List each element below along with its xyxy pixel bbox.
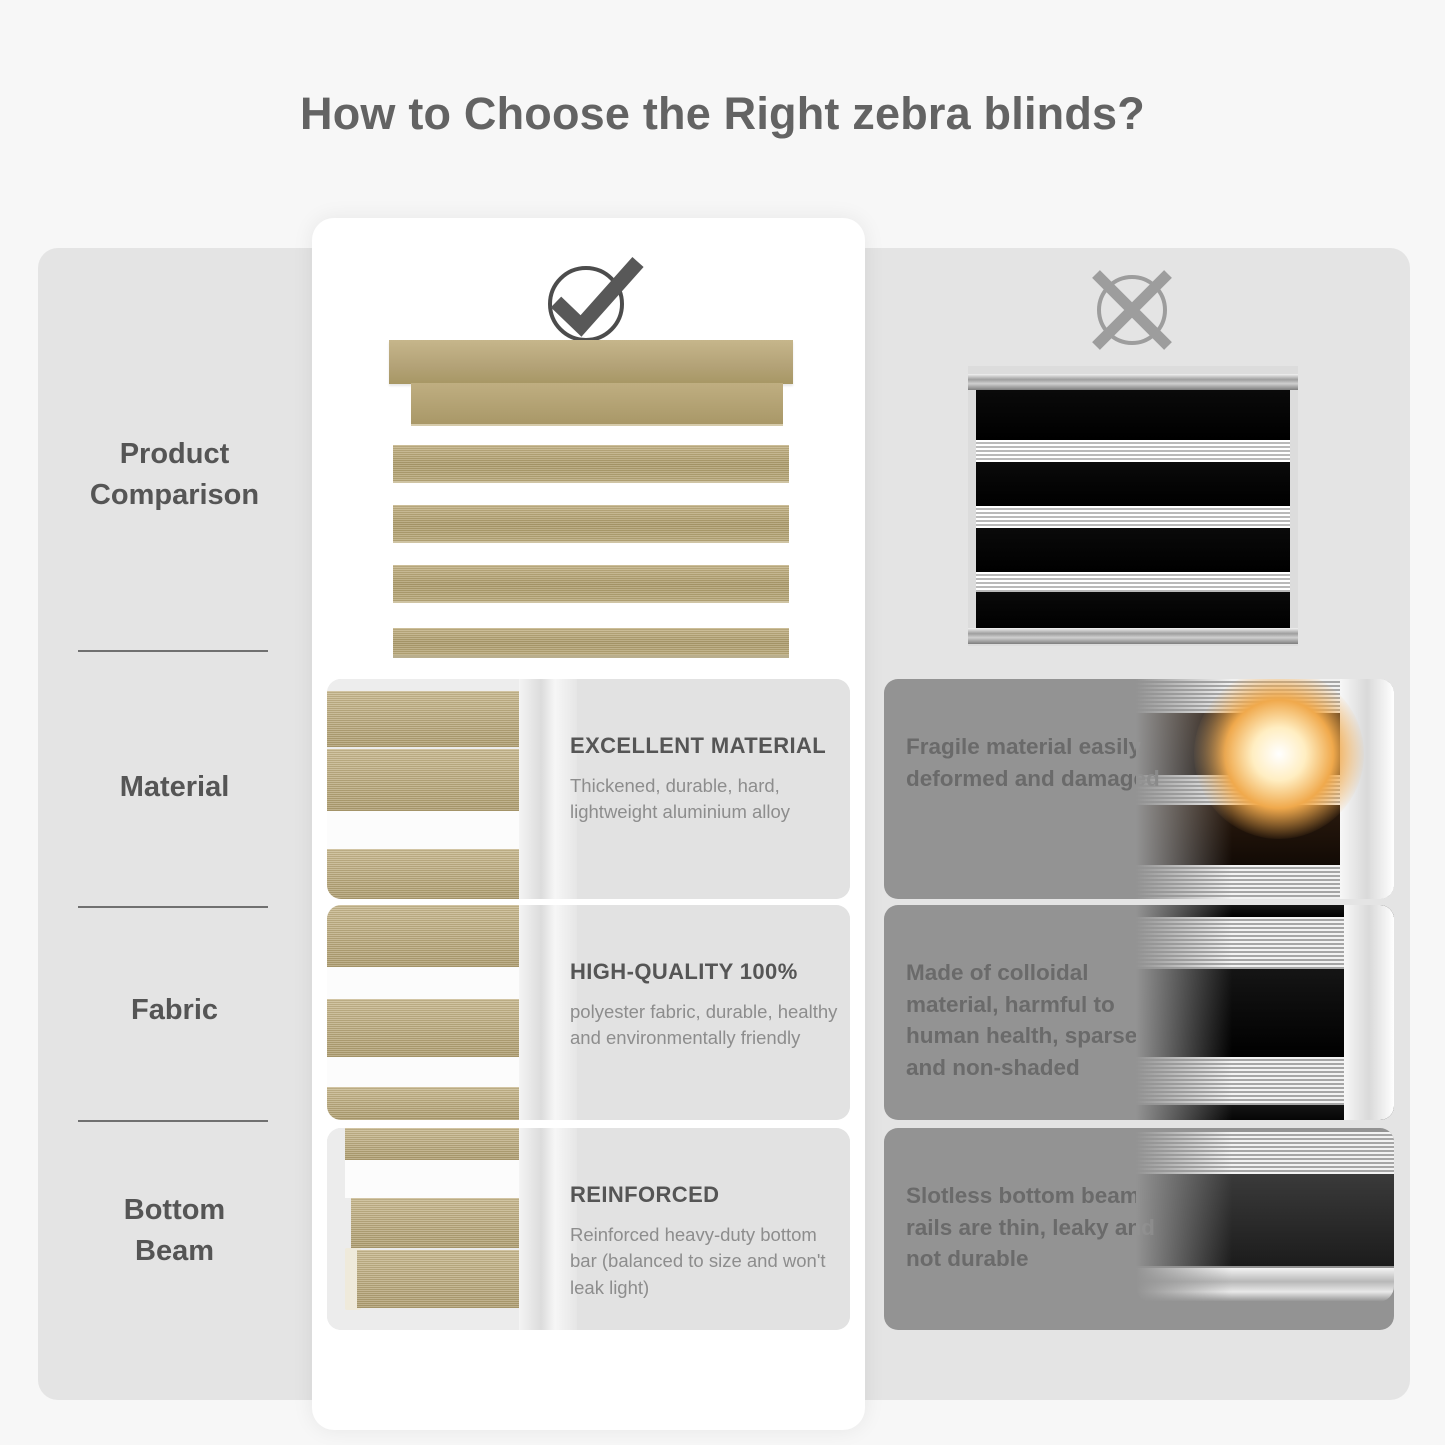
row-divider-2 bbox=[78, 906, 268, 908]
blind-slat bbox=[393, 565, 789, 603]
feature-body: Reinforced heavy-duty bottom bar (balanc… bbox=[570, 1222, 838, 1301]
row-divider-1 bbox=[78, 650, 268, 652]
feature-text-good-material: EXCELLENT MATERIAL Thickened, durable, h… bbox=[570, 733, 838, 826]
blind-band-opaque bbox=[976, 390, 1290, 440]
blind-bottom-rail bbox=[968, 628, 1298, 644]
feature-image-good-fabric bbox=[327, 905, 577, 1120]
blind-slat bbox=[393, 505, 789, 543]
blind-headrail bbox=[389, 340, 793, 384]
feature-image-good-bottom-beam bbox=[327, 1128, 577, 1330]
row-label-bottom-beam: Bottom Beam bbox=[62, 1190, 287, 1272]
blind-band-sheer bbox=[327, 811, 523, 849]
blind-valance bbox=[411, 383, 783, 426]
product-image-black-zebra-blind bbox=[968, 366, 1298, 646]
blind-band-sheer bbox=[327, 1057, 523, 1087]
blind-band-opaque bbox=[327, 1087, 523, 1120]
blind-band-sheer bbox=[976, 506, 1290, 528]
blind-band-opaque bbox=[976, 528, 1290, 572]
blind-band-opaque bbox=[327, 691, 523, 747]
feature-card-good-fabric: HIGH-QUALITY 100% polyester fabric, dura… bbox=[327, 905, 850, 1120]
blind-band-opaque bbox=[976, 592, 1290, 628]
feature-body: Thickened, durable, hard, lightweight al… bbox=[570, 773, 838, 826]
image-fade-overlay bbox=[1136, 1128, 1232, 1330]
blind-band-sheer bbox=[327, 967, 523, 999]
row-divider-3 bbox=[78, 1120, 268, 1122]
blind-band-opaque bbox=[345, 1128, 535, 1160]
feature-image-bad-bottom-beam bbox=[1136, 1128, 1394, 1330]
window-frame bbox=[1344, 905, 1394, 1120]
row-label-fabric: Fabric bbox=[62, 990, 287, 1031]
blind-band-opaque bbox=[327, 849, 523, 899]
check-circle-icon bbox=[534, 252, 654, 347]
row-label-bottom-line2: Beam bbox=[62, 1231, 287, 1272]
feature-heading: REINFORCED bbox=[570, 1182, 838, 1208]
feature-card-bad-fabric: Made of colloidal material, harmful to h… bbox=[884, 905, 1394, 1120]
blind-band-sheer bbox=[345, 1160, 535, 1198]
blind-band-sheer bbox=[976, 572, 1290, 592]
feature-heading: EXCELLENT MATERIAL bbox=[570, 733, 838, 759]
feature-image-good-material bbox=[327, 679, 577, 899]
feature-text-good-fabric: HIGH-QUALITY 100% polyester fabric, dura… bbox=[570, 959, 838, 1052]
blind-band-opaque bbox=[351, 1198, 537, 1248]
feature-card-good-material: EXCELLENT MATERIAL Thickened, durable, h… bbox=[327, 679, 850, 899]
row-label-product-comparison: Product Comparison bbox=[62, 434, 287, 516]
feature-image-bad-fabric bbox=[1136, 905, 1394, 1120]
row-label-bottom-line1: Bottom bbox=[62, 1190, 287, 1231]
feature-card-bad-bottom-beam: Slotless bottom beam rails are thin, lea… bbox=[884, 1128, 1394, 1330]
blind-bottom-bar bbox=[357, 1250, 539, 1308]
feature-card-bad-material: Fragile material easily deformed and dam… bbox=[884, 679, 1394, 899]
product-image-beige-zebra-blind bbox=[389, 340, 793, 665]
row-label-material: Material bbox=[62, 767, 287, 808]
blind-band-opaque bbox=[327, 999, 523, 1057]
image-fade-overlay bbox=[1136, 905, 1232, 1120]
blind-band-opaque bbox=[327, 905, 523, 967]
blind-slat bbox=[393, 445, 789, 483]
row-label-product-line1: Product bbox=[62, 434, 287, 475]
page-title: How to Choose the Right zebra blinds? bbox=[0, 88, 1445, 140]
blind-bottom-bar bbox=[393, 628, 789, 658]
feature-text-good-bottom-beam: REINFORCED Reinforced heavy-duty bottom … bbox=[570, 1182, 838, 1301]
row-label-product-line2: Comparison bbox=[62, 475, 287, 516]
feature-body: polyester fabric, durable, healthy and e… bbox=[570, 999, 838, 1052]
blind-band-opaque bbox=[327, 749, 523, 811]
feature-card-good-bottom-beam: REINFORCED Reinforced heavy-duty bottom … bbox=[327, 1128, 850, 1330]
cross-circle-icon bbox=[1082, 262, 1182, 358]
blind-band-sheer bbox=[976, 440, 1290, 462]
blind-band-opaque bbox=[976, 462, 1290, 506]
feature-image-bad-material bbox=[1136, 679, 1394, 899]
image-fade-overlay bbox=[1136, 679, 1232, 899]
infographic-root: How to Choose the Right zebra blinds? Pr… bbox=[0, 0, 1445, 1445]
blind-headrail bbox=[968, 374, 1298, 390]
feature-heading: HIGH-QUALITY 100% bbox=[570, 959, 838, 985]
